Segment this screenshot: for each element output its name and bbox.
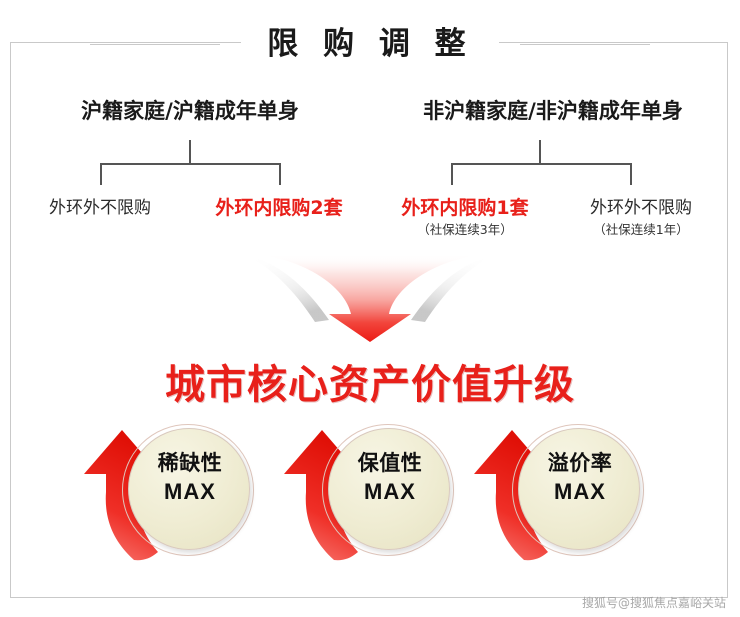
poster-canvas: 限 购 调 整 沪籍家庭/沪籍成年单身 非沪籍家庭/非沪籍成年单身 外环外不限购…: [0, 0, 740, 617]
badge-label-zh: 保值性: [334, 448, 446, 478]
policy-cell-2: 外环内限购2套: [186, 196, 372, 220]
title-band: 限 购 调 整: [0, 18, 740, 70]
bracket-left-stem: [189, 140, 191, 164]
policy-main-4: 外环外不限购: [552, 196, 730, 220]
policy-cell-4: 外环外不限购 （社保连续1年）: [552, 196, 730, 240]
bracket-left-bar: [100, 163, 280, 165]
group-heading-local: 沪籍家庭/沪籍成年单身: [20, 95, 360, 125]
bracket-left-leg-left: [100, 163, 102, 185]
title-rule-right: [520, 44, 650, 45]
source-watermark: 搜狐号@搜狐焦点嘉峪关站: [582, 594, 726, 611]
funnel-down-arrow-icon: [245, 252, 495, 344]
policy-cell-3: 外环内限购1套 （社保连续3年）: [374, 196, 556, 240]
policy-sub-3: （社保连续3年）: [374, 220, 556, 240]
headline: 城市核心资产价值升级: [0, 352, 740, 410]
badge-label-group: 稀缺性 MAX: [134, 448, 246, 506]
badge-label-en: MAX: [524, 478, 636, 506]
title-rule-left: [90, 44, 220, 45]
page-title-wrap: 限 购 调 整: [241, 18, 498, 70]
page-title: 限 购 调 整: [267, 26, 472, 62]
bracket-right-leg-left: [451, 163, 453, 185]
badge-label-en: MAX: [134, 478, 246, 506]
policy-cell-1: 外环外不限购: [12, 196, 188, 220]
bracket-left-leg-right: [279, 163, 281, 185]
badge-value-retention: 保值性 MAX: [272, 418, 472, 563]
badge-label-zh: 稀缺性: [134, 448, 246, 478]
policy-main-3: 外环内限购1套: [374, 196, 556, 220]
badge-label-group: 溢价率 MAX: [524, 448, 636, 506]
badge-row: 稀缺性 MAX 保: [0, 418, 740, 563]
policy-main-2: 外环内限购2套: [186, 196, 372, 220]
badge-scarcity: 稀缺性 MAX: [72, 418, 272, 563]
bracket-right-leg-right: [630, 163, 632, 185]
badge-label-en: MAX: [334, 478, 446, 506]
bracket-right-stem: [539, 140, 541, 164]
policy-main-1: 外环外不限购: [12, 196, 188, 220]
badge-premium-rate: 溢价率 MAX: [462, 418, 662, 563]
badge-label-group: 保值性 MAX: [334, 448, 446, 506]
badge-label-zh: 溢价率: [524, 448, 636, 478]
bracket-right-bar: [451, 163, 631, 165]
policy-sub-4: （社保连续1年）: [552, 220, 730, 240]
group-heading-nonlocal: 非沪籍家庭/非沪籍成年单身: [378, 95, 728, 125]
